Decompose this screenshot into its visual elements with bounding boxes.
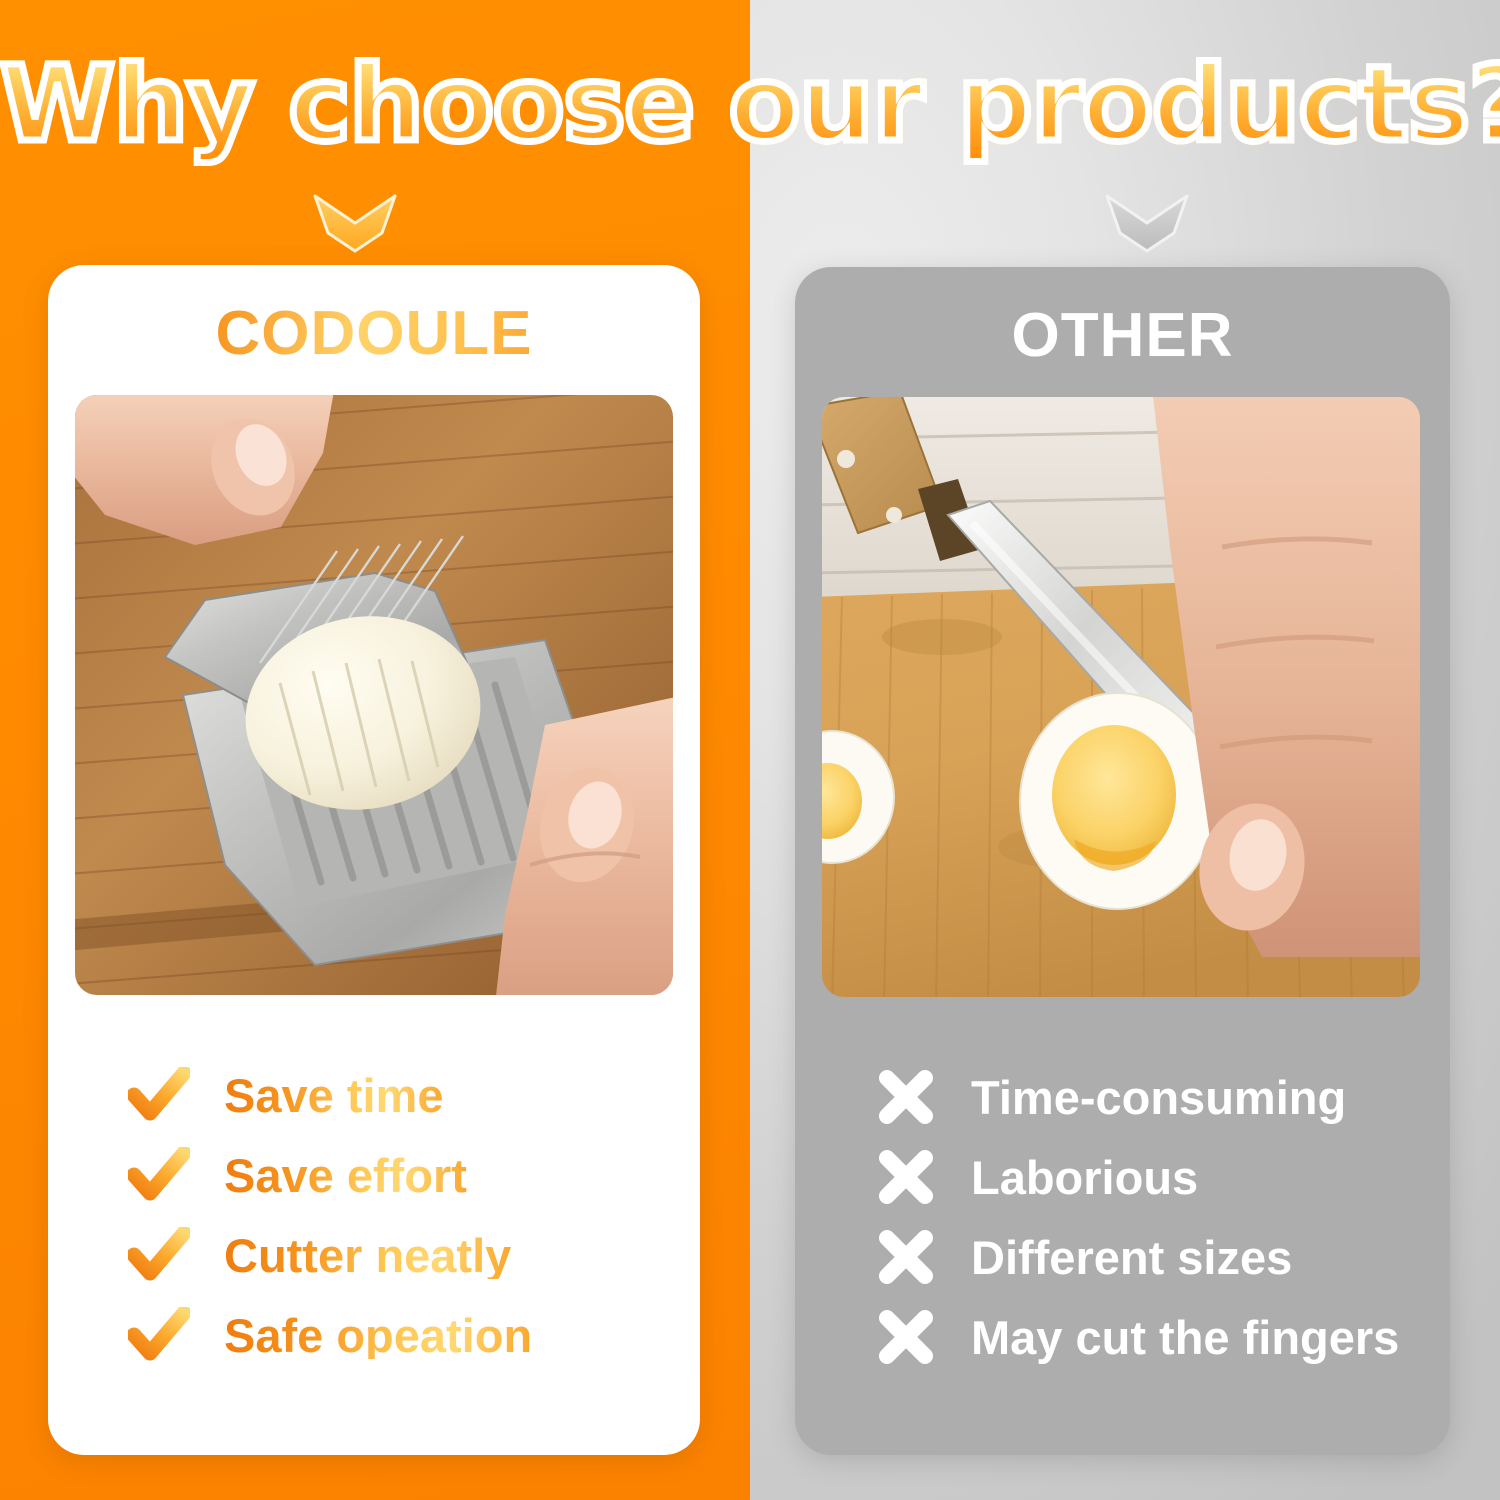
list-item-label: Save time <box>224 1072 443 1119</box>
other-heading: OTHER <box>795 305 1450 367</box>
cross-icon <box>873 1306 939 1368</box>
codoule-panel: CODOULE <box>48 265 700 1455</box>
list-item: Save time <box>126 1055 686 1135</box>
other-panel: OTHER <box>795 267 1450 1455</box>
list-item: Laborious <box>873 1137 1433 1217</box>
other-feature-list: Time-consuming Laborious <box>873 1057 1433 1377</box>
list-item: Different sizes <box>873 1217 1433 1297</box>
list-item-label: Different sizes <box>971 1234 1292 1281</box>
comparison-poster: Why choose our products? <box>0 0 1500 1500</box>
cross-icon <box>873 1226 939 1288</box>
list-item-label: May cut the fingers <box>971 1314 1399 1361</box>
check-icon <box>126 1224 192 1286</box>
list-item: May cut the fingers <box>873 1297 1433 1377</box>
list-item: Safe opeation <box>126 1295 686 1375</box>
list-item-label: Safe opeation <box>224 1312 532 1359</box>
page-title-text: Why choose our products? <box>0 43 1500 165</box>
check-icon <box>126 1064 192 1126</box>
codoule-heading: CODOULE <box>48 303 700 365</box>
chevron-down-icon-right <box>1104 192 1190 254</box>
list-item-label: Save effort <box>224 1152 467 1199</box>
list-item-label: Laborious <box>971 1154 1198 1201</box>
list-item: Save effort <box>126 1135 686 1215</box>
check-icon <box>126 1304 192 1366</box>
list-item: Time-consuming <box>873 1057 1433 1137</box>
list-item-label: Cutter neatly <box>224 1232 511 1279</box>
list-item: Cutter neatly <box>126 1215 686 1295</box>
other-product-photo <box>822 397 1420 997</box>
codoule-feature-list: Save time Save effort Cutter neatly <box>126 1055 686 1375</box>
page-title: Why choose our products? <box>0 52 1500 156</box>
codoule-product-photo <box>75 395 673 995</box>
list-item-label: Time-consuming <box>971 1074 1346 1121</box>
cross-icon <box>873 1066 939 1128</box>
cross-icon <box>873 1146 939 1208</box>
chevron-down-icon-left <box>312 192 398 254</box>
check-icon <box>126 1144 192 1206</box>
